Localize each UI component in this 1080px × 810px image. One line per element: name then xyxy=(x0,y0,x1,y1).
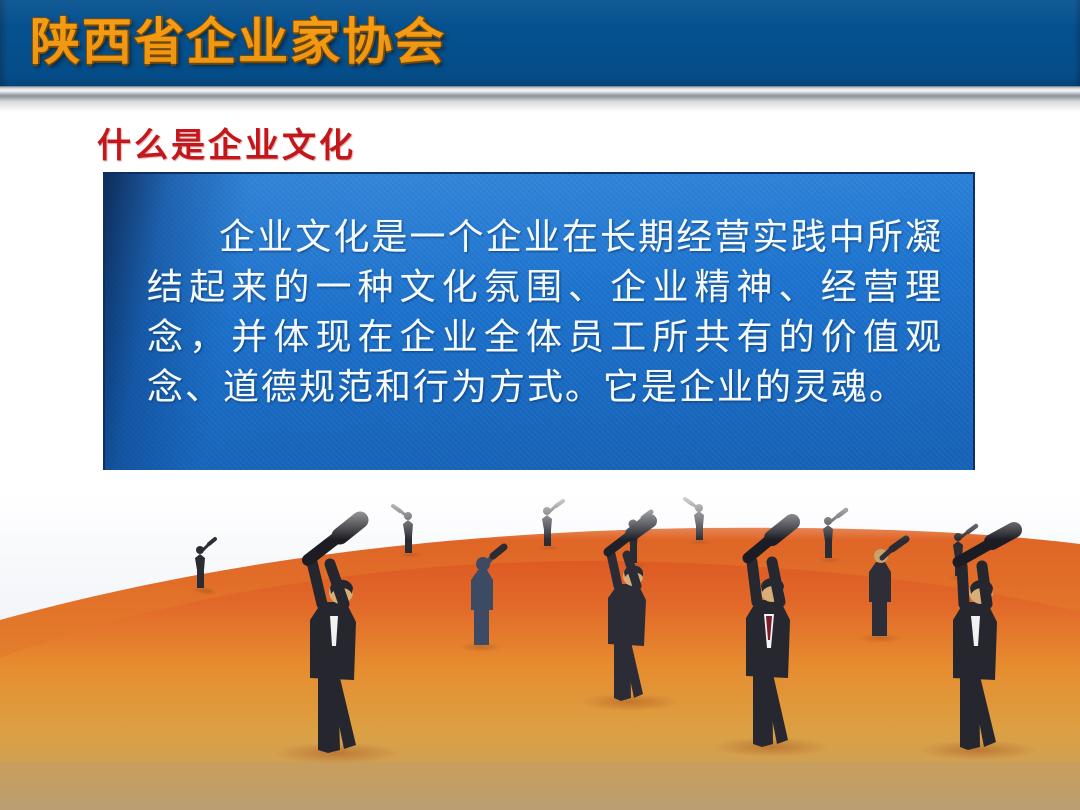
section-title: 什么是企业文化 xyxy=(97,118,356,167)
figure-small-far-left xyxy=(197,589,217,595)
slide-canvas: 陕西省企业家协会 什么是企业文化 企业文化是一个企业在长期经营实践中所凝结起来的… xyxy=(0,0,1080,810)
header-right-edge xyxy=(1074,0,1080,87)
organization-title: 陕西省企业家协会 xyxy=(30,8,446,76)
header-drop-shadow xyxy=(0,96,1080,112)
header-left-edge xyxy=(0,0,7,87)
header-metallic-strip xyxy=(0,86,1080,96)
content-text-block: 企业文化是一个企业在长期经营实践中所凝结起来的一种文化氛围、企业精神、经营理念，… xyxy=(147,212,943,412)
illustration-businesspeople-telescopes xyxy=(0,470,1080,810)
header-banner: 陕西省企业家协会 xyxy=(0,0,1080,87)
illustration-svg xyxy=(0,470,1080,810)
ground-haze xyxy=(0,762,1080,810)
definition-paragraph: 企业文化是一个企业在长期经营实践中所凝结起来的一种文化氛围、企业精神、经营理念，… xyxy=(147,212,943,412)
